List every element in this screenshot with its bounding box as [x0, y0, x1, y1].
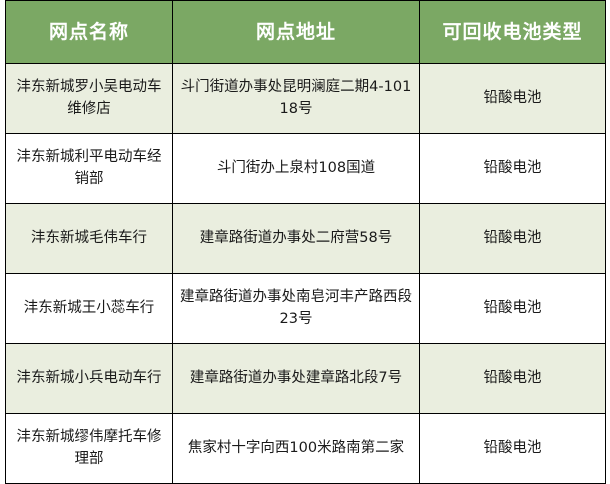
- cell-site-address: 建章路街道办事处南皂河丰产路西段23号: [173, 274, 420, 344]
- battery-type-text: 铅酸电池: [426, 158, 599, 179]
- table-body: 沣东新城罗小吴电动车维修店 斗门街道办事处昆明澜庭二期4-10118号 铅酸电池…: [6, 64, 606, 484]
- cell-site-name: 沣东新城小兵电动车行: [6, 344, 173, 414]
- column-header-site-name: 网点名称: [6, 1, 173, 64]
- table-header: 网点名称 网点地址 可回收电池类型: [6, 1, 606, 64]
- table-row: 沣东新城毛伟车行 建章路街道办事处二府营58号 铅酸电池: [6, 204, 606, 274]
- site-name-text: 沣东新城毛伟车行: [12, 228, 166, 249]
- battery-type-text: 铅酸电池: [426, 368, 599, 389]
- cell-site-name: 沣东新城罗小吴电动车维修店: [6, 64, 173, 134]
- site-name-text: 沣东新城小兵电动车行: [12, 368, 166, 389]
- cell-site-name: 沣东新城缪伟摩托车修理部: [6, 414, 173, 484]
- cell-site-address: 焦家村十字向西100米路南第二家: [173, 414, 420, 484]
- cell-site-address: 斗门街办上泉村108国道: [173, 134, 420, 204]
- cell-site-name: 沣东新城毛伟车行: [6, 204, 173, 274]
- table-row: 沣东新城小兵电动车行 建章路街道办事处建章路北段7号 铅酸电池: [6, 344, 606, 414]
- table-header-row: 网点名称 网点地址 可回收电池类型: [6, 1, 606, 64]
- cell-site-name: 沣东新城利平电动车经销部: [6, 134, 173, 204]
- battery-type-text: 铅酸电池: [426, 298, 599, 319]
- table-row: 沣东新城罗小吴电动车维修店 斗门街道办事处昆明澜庭二期4-10118号 铅酸电池: [6, 64, 606, 134]
- recycle-sites-table: 网点名称 网点地址 可回收电池类型 沣东新城罗小吴电动车维修店 斗门街道办事处昆…: [5, 0, 606, 484]
- cell-battery-type: 铅酸电池: [420, 204, 606, 274]
- site-address-text: 焦家村十字向西100米路南第二家: [179, 438, 413, 459]
- cell-site-name: 沣东新城王小蕊车行: [6, 274, 173, 344]
- cell-site-address: 斗门街道办事处昆明澜庭二期4-10118号: [173, 64, 420, 134]
- cell-site-address: 建章路街道办事处建章路北段7号: [173, 344, 420, 414]
- cell-battery-type: 铅酸电池: [420, 344, 606, 414]
- cell-battery-type: 铅酸电池: [420, 274, 606, 344]
- column-header-battery-type: 可回收电池类型: [420, 1, 606, 64]
- cell-battery-type: 铅酸电池: [420, 64, 606, 134]
- table-row: 沣东新城缪伟摩托车修理部 焦家村十字向西100米路南第二家 铅酸电池: [6, 414, 606, 484]
- site-address-text: 建章路街道办事处建章路北段7号: [179, 368, 413, 389]
- cell-battery-type: 铅酸电池: [420, 414, 606, 484]
- site-address-text: 建章路街道办事处二府营58号: [179, 228, 413, 249]
- battery-type-text: 铅酸电池: [426, 438, 599, 459]
- cell-site-address: 建章路街道办事处二府营58号: [173, 204, 420, 274]
- site-address-text: 斗门街办上泉村108国道: [179, 158, 413, 179]
- table-row: 沣东新城王小蕊车行 建章路街道办事处南皂河丰产路西段23号 铅酸电池: [6, 274, 606, 344]
- cell-battery-type: 铅酸电池: [420, 134, 606, 204]
- battery-type-text: 铅酸电池: [426, 88, 599, 109]
- recycle-sites-table-container: 网点名称 网点地址 可回收电池类型 沣东新城罗小吴电动车维修店 斗门街道办事处昆…: [5, 0, 605, 484]
- column-header-site-address: 网点地址: [173, 1, 420, 64]
- site-address-text: 建章路街道办事处南皂河丰产路西段23号: [179, 287, 413, 329]
- site-name-text: 沣东新城罗小吴电动车维修店: [12, 77, 166, 119]
- table-row: 沣东新城利平电动车经销部 斗门街办上泉村108国道 铅酸电池: [6, 134, 606, 204]
- site-name-text: 沣东新城缪伟摩托车修理部: [12, 427, 166, 469]
- site-name-text: 沣东新城王小蕊车行: [12, 298, 166, 319]
- site-address-text: 斗门街道办事处昆明澜庭二期4-10118号: [179, 77, 413, 119]
- battery-type-text: 铅酸电池: [426, 228, 599, 249]
- site-name-text: 沣东新城利平电动车经销部: [12, 147, 166, 189]
